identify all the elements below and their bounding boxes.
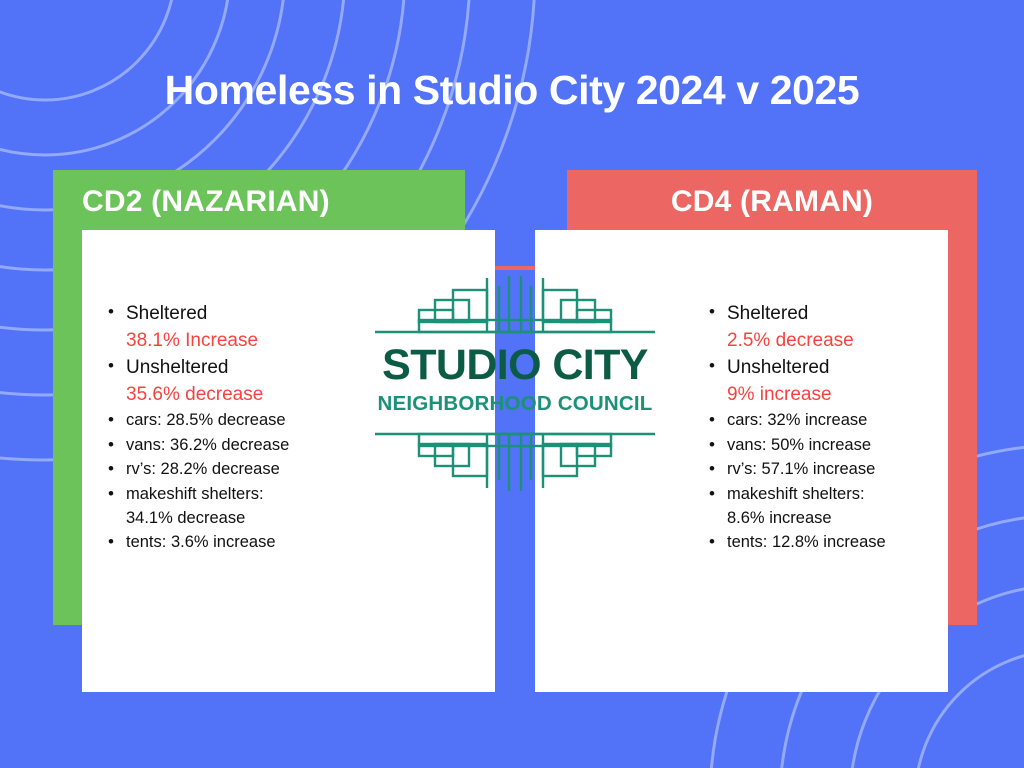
center-divider-bottom (495, 500, 535, 768)
list-item: cars: 32% increase (707, 408, 1007, 432)
list-item: Unsheltered 9% increase (707, 354, 1007, 407)
center-divider-top (495, 230, 535, 268)
stat-delta: 9% increase (727, 382, 1007, 407)
stats-cd4: Sheltered 2.5% decrease Unsheltered 9% i… (707, 300, 1007, 555)
list-item: cars: 28.5% decrease (106, 408, 406, 432)
stat-delta: 38.1% Increase (126, 328, 406, 353)
list-item: Sheltered 2.5% decrease (707, 300, 1007, 353)
stats-cd2-main: Sheltered 38.1% Increase Unsheltered 35.… (106, 300, 406, 407)
stats-cd4-main: Sheltered 2.5% decrease Unsheltered 9% i… (707, 300, 1007, 407)
stat-label: Unsheltered (126, 357, 228, 378)
list-item: Sheltered 38.1% Increase (106, 300, 406, 353)
stat-delta: 35.6% decrease (126, 382, 406, 407)
header-cd2: CD2 (NAZARIAN) (82, 185, 330, 219)
center-divider-accent-line (495, 266, 535, 270)
page-title: Homeless in Studio City 2024 v 2025 (0, 68, 1024, 113)
list-item: makeshift shelters: 34.1% decrease (106, 482, 406, 531)
list-item: rv’s: 28.2% decrease (106, 457, 406, 481)
stats-cd2: Sheltered 38.1% Increase Unsheltered 35.… (106, 300, 406, 555)
shelter-label: makeshift shelters: (126, 485, 264, 503)
list-item: rv’s: 57.1% increase (707, 457, 1007, 481)
header-cd4: CD4 (RAMAN) (567, 185, 977, 219)
stats-cd2-vehicles: cars: 28.5% decrease vans: 36.2% decreas… (106, 408, 406, 481)
stat-label: Unsheltered (727, 357, 829, 378)
shelter-delta: 8.6% increase (727, 506, 1007, 530)
list-item: vans: 36.2% decrease (106, 433, 406, 457)
logo-subtitle: NEIGHBORHOOD COUNCIL (367, 394, 663, 415)
stat-label: Sheltered (126, 303, 207, 324)
list-item: tents: 12.8% increase (707, 530, 1007, 554)
shelter-delta: 34.1% decrease (126, 506, 406, 530)
stats-cd4-vehicles: cars: 32% increase vans: 50% increase rv… (707, 408, 1007, 481)
list-item: Unsheltered 35.6% decrease (106, 354, 406, 407)
studio-city-logo: STUDIO CITY NEIGHBORHOOD COUNCIL (367, 276, 663, 491)
list-item: tents: 3.6% increase (106, 530, 406, 554)
list-item: vans: 50% increase (707, 433, 1007, 457)
stats-cd4-shelters: makeshift shelters: 8.6% increase tents:… (707, 482, 1007, 555)
shelter-label: makeshift shelters: (727, 485, 865, 503)
list-item: makeshift shelters: 8.6% increase (707, 482, 1007, 531)
stat-label: Sheltered (727, 303, 808, 324)
stat-delta: 2.5% decrease (727, 328, 1007, 353)
logo-title: STUDIO CITY (367, 344, 663, 387)
stats-cd2-shelters: makeshift shelters: 34.1% decrease tents… (106, 482, 406, 555)
